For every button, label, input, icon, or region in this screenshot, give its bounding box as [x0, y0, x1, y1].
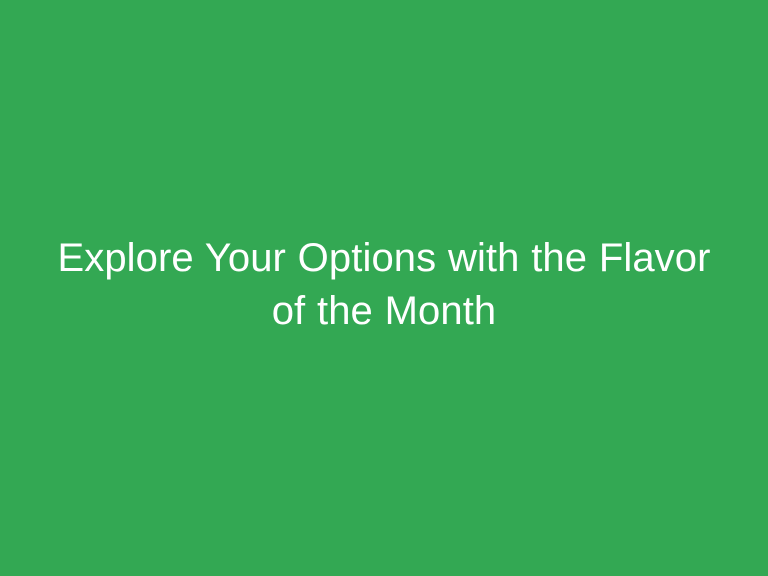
- banner-canvas: Explore Your Options with the Flavor of …: [0, 0, 768, 576]
- page-title-line-2: of the Month: [24, 285, 744, 338]
- page-title: Explore Your Options with the Flavor of …: [24, 232, 744, 338]
- page-title-line-1: Explore Your Options with the Flavor: [24, 232, 744, 285]
- headline-block: Explore Your Options with the Flavor of …: [0, 232, 768, 338]
